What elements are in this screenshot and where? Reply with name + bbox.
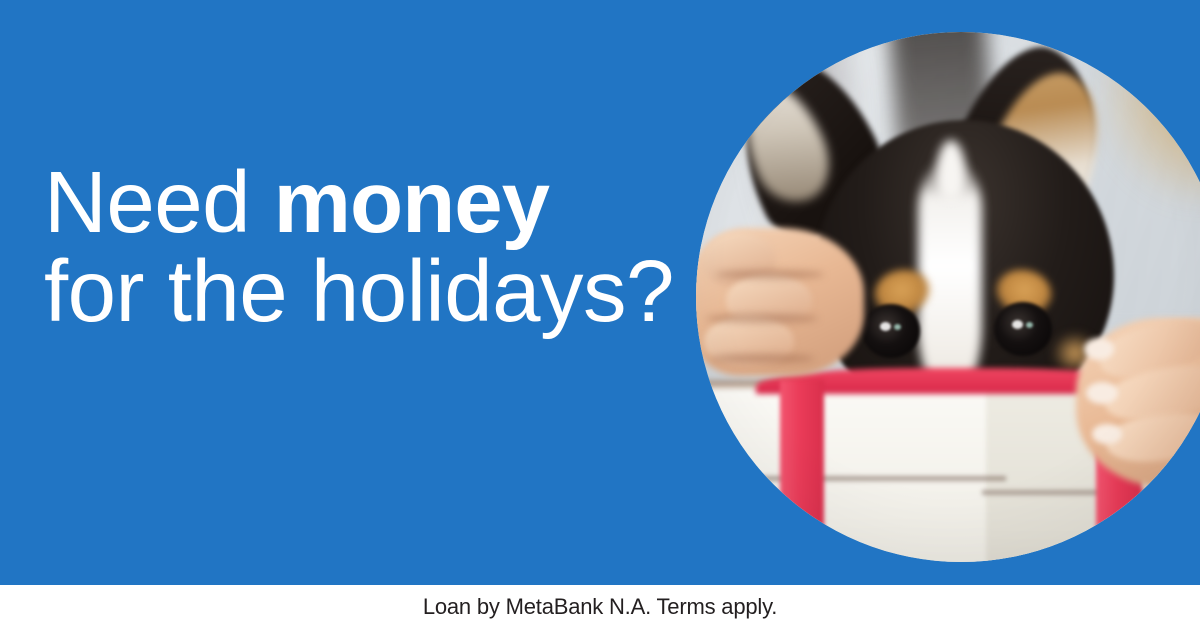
hand-left-crease-2 bbox=[706, 314, 818, 323]
dog-eye-right bbox=[994, 302, 1052, 356]
dog-eye-left bbox=[862, 304, 920, 358]
hero-photo-content bbox=[696, 32, 1200, 562]
headline-line-1-prefix: Need bbox=[44, 154, 274, 251]
dog-eye-glint-left-small bbox=[894, 324, 901, 330]
hand-right-nail-2 bbox=[1086, 382, 1118, 404]
hand-left-crease-1 bbox=[716, 270, 824, 279]
hero-photo-circle bbox=[696, 32, 1200, 562]
disclaimer-bar: Loan by MetaBank N.A. Terms apply. bbox=[0, 585, 1200, 628]
dog-eye-glint-left bbox=[880, 322, 891, 331]
background-warm-light bbox=[1086, 32, 1200, 202]
headline-emphasis-money: money bbox=[274, 154, 549, 251]
promotional-banner: Need money for the holidays? bbox=[0, 0, 1200, 628]
headline-line-1: Need money bbox=[44, 160, 704, 246]
dog-eye-glint-right-small bbox=[1026, 322, 1033, 328]
gift-box-lid-seam-right bbox=[982, 490, 1200, 495]
hand-right-nail-1 bbox=[1084, 338, 1114, 360]
gift-box-lid-seam-left bbox=[696, 476, 1006, 481]
dog-eye-glint-right bbox=[1012, 320, 1023, 329]
hand-right-nail-3 bbox=[1092, 424, 1122, 444]
hand-left-crease-3 bbox=[710, 354, 814, 363]
gift-ribbon-left bbox=[780, 380, 824, 562]
headline-block: Need money for the holidays? bbox=[44, 160, 704, 335]
disclaimer-text: Loan by MetaBank N.A. Terms apply. bbox=[423, 594, 777, 620]
headline-line-2: for the holidays? bbox=[44, 249, 704, 335]
